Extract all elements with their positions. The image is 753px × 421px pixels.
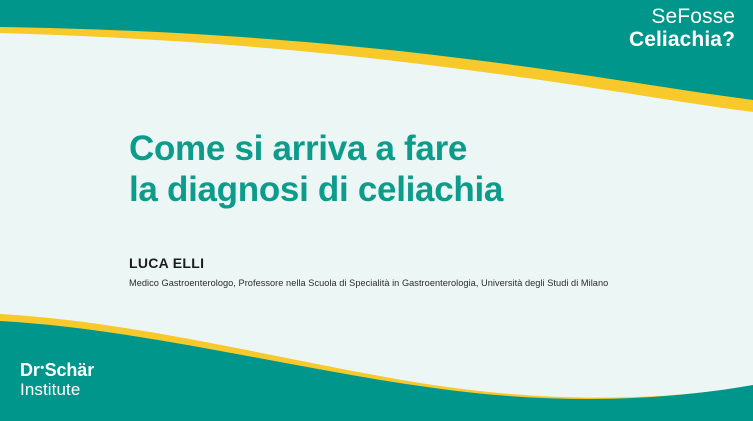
- brand-wordmark-line1: SeFosse: [629, 6, 735, 29]
- speaker-name: LUCA ELLI: [129, 254, 709, 272]
- logo-line1: Dr•Schär: [20, 360, 94, 380]
- slide-title-line2: la diagnosi di celiachia: [129, 169, 689, 210]
- logo-separator-dot: •: [40, 362, 44, 374]
- logo-brand-prefix: Dr: [20, 360, 40, 380]
- logo-brand-suffix: Schär: [45, 360, 95, 380]
- dr-schar-institute-logo: Dr•Schär Institute: [20, 360, 94, 399]
- brand-wordmark-line2: Celiachia?: [629, 29, 735, 52]
- slide-title-line1: Come si arriva a fare: [129, 128, 689, 169]
- bottom-yellow-accent-stripe: [0, 314, 753, 421]
- bottom-teal-band: [0, 321, 753, 421]
- speaker-block: LUCA ELLI Medico Gastroenterologo, Profe…: [129, 254, 709, 290]
- speaker-affiliation: Medico Gastroenterologo, Professore nell…: [129, 277, 709, 289]
- brand-wordmark: SeFosse Celiachia?: [629, 6, 735, 51]
- slide-title: Come si arriva a fare la diagnosi di cel…: [129, 128, 689, 211]
- presentation-title-slide: SeFosse Celiachia? Come si arriva a fare…: [0, 0, 753, 421]
- logo-line2: Institute: [20, 380, 94, 399]
